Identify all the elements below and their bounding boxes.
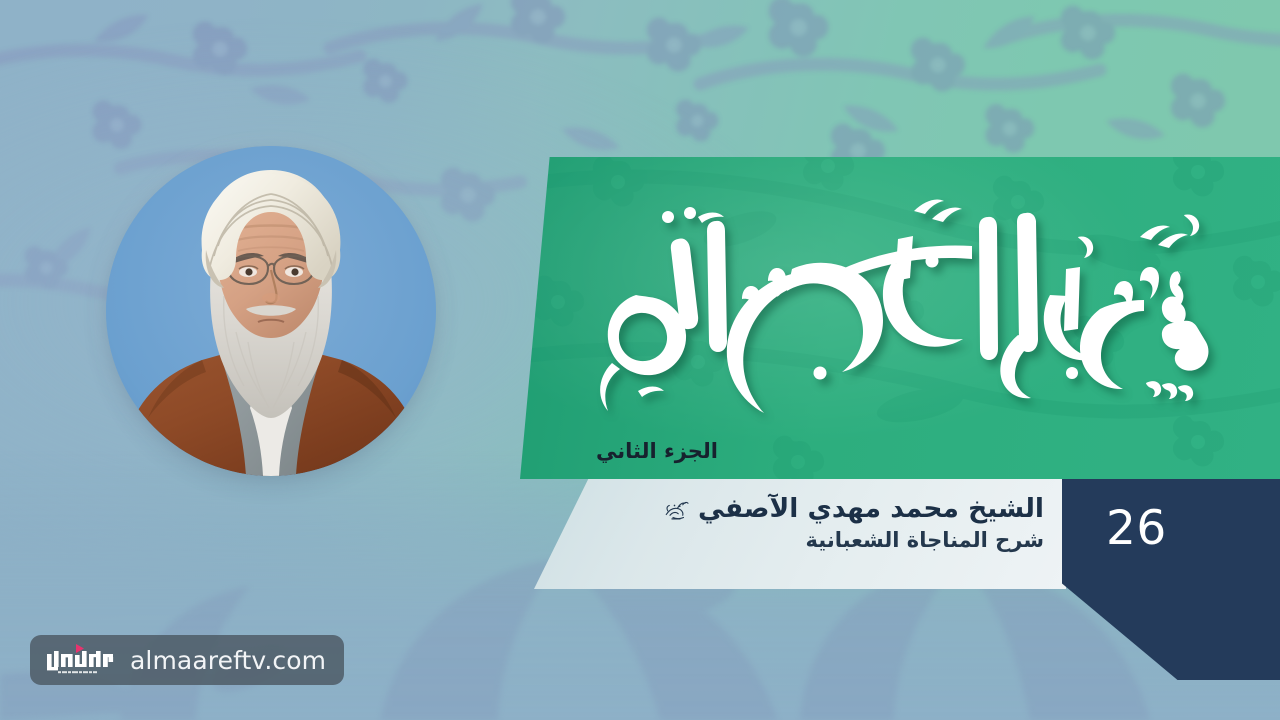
- program-title-calligraphy: [520, 171, 1280, 431]
- episode-number: 26: [1106, 505, 1167, 552]
- almaaref-logo-icon: [44, 643, 118, 677]
- speaker-name: الشيخ محمد مهدي الآصفي: [698, 493, 1044, 524]
- video-title-card: الجزء الثاني الشيخ محمد مهدي الآصفي: [0, 0, 1280, 720]
- speaker-portrait: [106, 146, 436, 476]
- channel-watermark[interactable]: almaareftv.com: [30, 635, 344, 685]
- part-label: الجزء الثاني: [596, 439, 718, 463]
- honorific-rahimahullah-icon: [661, 495, 691, 525]
- program-subtitle: شرح المناجاة الشعبانية: [661, 527, 1044, 553]
- speaker-line: الشيخ محمد مهدي الآصفي: [661, 493, 1044, 525]
- portrait-circle: [106, 146, 436, 476]
- speaker-info-panel: الشيخ محمد مهدي الآصفي: [534, 479, 1066, 589]
- title-banner: الجزء الثاني: [520, 157, 1280, 479]
- channel-url[interactable]: almaareftv.com: [130, 648, 326, 673]
